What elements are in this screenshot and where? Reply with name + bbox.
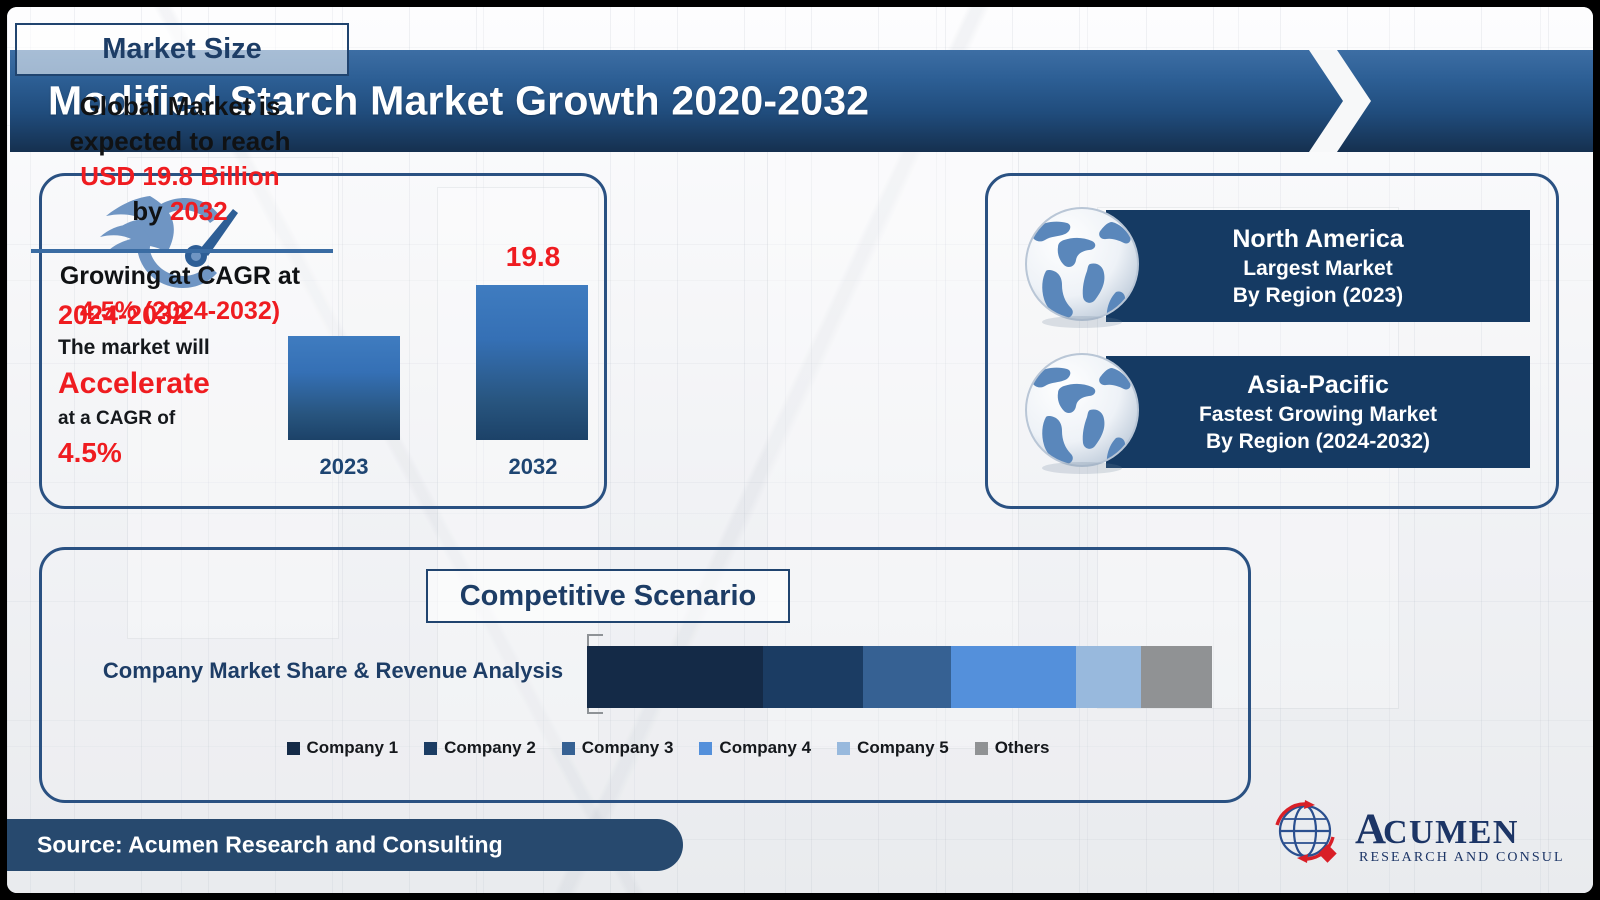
bar-category-2023: 2023 <box>279 454 409 480</box>
chevron-right-icon <box>1309 50 1371 152</box>
stack-segment-5[interactable] <box>1076 646 1141 708</box>
competitive-title-box: Competitive Scenario <box>426 569 790 623</box>
competitive-scenario-card: Competitive Scenario Company Market Shar… <box>39 547 1251 803</box>
competitive-title: Competitive Scenario <box>460 580 757 613</box>
bar-value-label-2032: 19.8 <box>468 241 598 273</box>
market-size-body: Global Market is expected to reach USD 1… <box>7 89 353 229</box>
svg-text:RESEARCH AND CONSULTING: RESEARCH AND CONSULTING <box>1359 850 1563 865</box>
globe-icon <box>1016 346 1148 478</box>
region-row-asia-pacific: Asia-Pacific Fastest Growing Market By R… <box>988 346 1556 486</box>
market-size-value: USD 19.8 Billion <box>7 159 353 194</box>
region-name: Asia-Pacific <box>1247 370 1389 401</box>
legend-item[interactable]: Company 1 <box>287 738 399 758</box>
legend-label: Company 4 <box>719 738 811 758</box>
legend-item[interactable]: Others <box>975 738 1050 758</box>
globe-icon <box>1016 200 1148 332</box>
legend-label: Company 2 <box>444 738 536 758</box>
region-bar: Asia-Pacific Fastest Growing Market By R… <box>1106 356 1530 468</box>
divider <box>31 249 333 253</box>
region-subtitle: Fastest Growing Market <box>1199 401 1437 428</box>
legend-item[interactable]: Company 2 <box>424 738 536 758</box>
legend-item[interactable]: Company 4 <box>699 738 811 758</box>
stack-segment-6[interactable] <box>1141 646 1212 708</box>
region-name: North America <box>1232 224 1403 255</box>
legend-swatch-icon <box>287 742 300 755</box>
cagr-growth-label: Growing at CAGR at <box>7 259 353 294</box>
regions-card: North America Largest Market By Region (… <box>985 173 1559 509</box>
market-size-by-line: by 2032 <box>7 194 353 229</box>
market-size-title-box: Market Size <box>15 23 349 76</box>
source-bar: Source: Acumen Research and Consulting <box>7 819 683 871</box>
source-text: Source: Acumen Research and Consulting <box>37 832 503 859</box>
legend-swatch-icon <box>837 742 850 755</box>
region-row-north-america: North America Largest Market By Region (… <box>988 200 1556 340</box>
market-share-stacked-bar <box>587 646 1212 708</box>
region-period: By Region (2024-2032) <box>1206 428 1430 455</box>
stack-segment-2[interactable] <box>763 646 863 708</box>
stack-segment-4[interactable] <box>951 646 1076 708</box>
region-subtitle: Largest Market <box>1243 255 1392 282</box>
bar-category-2032: 2032 <box>468 454 598 480</box>
market-size-bar-chart: 19.8 2023 2032 <box>254 196 594 486</box>
legend-label: Company 5 <box>857 738 949 758</box>
bar-2032 <box>476 285 588 440</box>
region-bar: North America Largest Market By Region (… <box>1106 210 1530 322</box>
acumen-logo: A CUMEN RESEARCH AND CONSULTING <box>1263 795 1563 869</box>
legend-swatch-icon <box>424 742 437 755</box>
cagr-growth-value: 4.5% (2024-2032) <box>7 294 353 329</box>
legend-swatch-icon <box>562 742 575 755</box>
legend-swatch-icon <box>699 742 712 755</box>
region-period: By Region (2023) <box>1233 282 1403 309</box>
infographic-root: Modified Starch Market Growth 2020-2032 <box>0 0 1600 900</box>
competitive-legend: Company 1Company 2Company 3Company 4Comp… <box>288 738 1048 758</box>
competitive-axis-label: Company Market Share & Revenue Analysis <box>98 658 568 684</box>
legend-label: Others <box>995 738 1050 758</box>
legend-swatch-icon <box>975 742 988 755</box>
by-prefix: by <box>132 196 170 226</box>
market-size-card: Market Size Global Market is expected to… <box>7 7 359 337</box>
market-size-title: Market Size <box>102 33 262 66</box>
legend-label: Company 3 <box>582 738 674 758</box>
bar-2023 <box>288 336 400 440</box>
by-year: 2032 <box>170 196 228 226</box>
market-size-footer: Growing at CAGR at 4.5% (2024-2032) <box>7 259 353 329</box>
market-size-line1: Global Market is <box>7 89 353 124</box>
stack-segment-1[interactable] <box>587 646 763 708</box>
market-size-line2: expected to reach <box>7 124 353 159</box>
infographic-canvas: Modified Starch Market Growth 2020-2032 <box>7 7 1593 893</box>
legend-label: Company 1 <box>307 738 399 758</box>
svg-text:CUMEN: CUMEN <box>1383 814 1519 851</box>
stack-segment-3[interactable] <box>863 646 951 708</box>
legend-item[interactable]: Company 5 <box>837 738 949 758</box>
legend-item[interactable]: Company 3 <box>562 738 674 758</box>
